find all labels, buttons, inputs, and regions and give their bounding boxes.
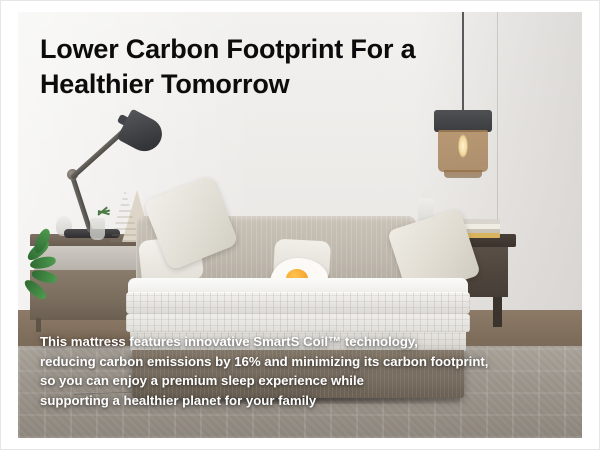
pendant-lamp-bulb-icon xyxy=(458,134,468,158)
mattress-pillow-top xyxy=(126,292,470,314)
nightstand-right-leg xyxy=(493,297,502,327)
body-copy-line-3: so you can enjoy a premium sleep experie… xyxy=(40,371,560,390)
body-copy-line-2: reducing carbon emissions by 16% and min… xyxy=(40,352,560,371)
mattress-band-texture xyxy=(126,314,470,332)
mattress-side-band xyxy=(126,314,470,332)
page-title: Lower Carbon Footprint For a Healthier T… xyxy=(40,32,480,101)
pendant-lamp-bottom xyxy=(444,170,482,178)
plant-sprig xyxy=(88,200,110,220)
body-copy-line-4: supporting a healthier planet for your f… xyxy=(40,391,560,410)
advertisement-banner: Lower Carbon Footprint For a Healthier T… xyxy=(0,0,600,450)
glass-vase xyxy=(90,218,105,240)
pendant-lamp-shade xyxy=(434,110,492,132)
body-copy: This mattress features innovative SmartS… xyxy=(40,332,560,410)
potted-plant-icon xyxy=(24,238,68,300)
mattress-quilt-texture xyxy=(126,292,470,314)
body-copy-line-1: This mattress features innovative SmartS… xyxy=(40,332,560,351)
nightstand-left-leg xyxy=(36,318,41,332)
